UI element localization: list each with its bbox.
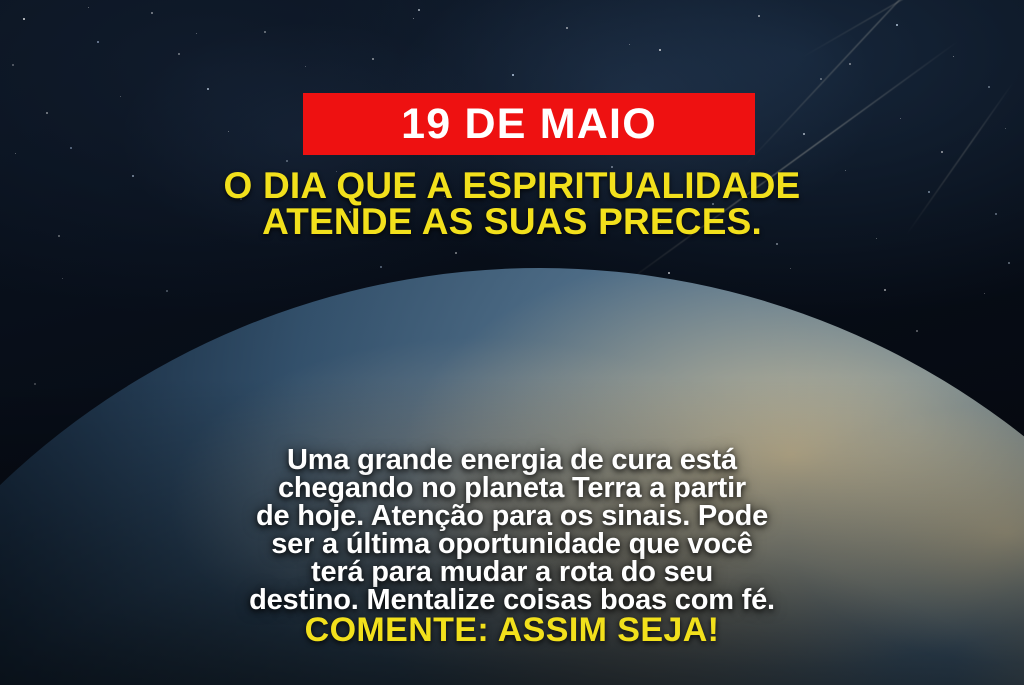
date-banner-text: 19 DE MAIO [401,103,657,146]
body-line-2: chegando no planeta Terra a partir [0,474,1024,502]
body-copy: Uma grande energia de cura está chegando… [0,446,1024,614]
headline-line-2: ATENDE AS SUAS PRECES. [0,204,1024,240]
headline: O DIA QUE A ESPIRITUALIDADE ATENDE AS SU… [0,168,1024,240]
body-line-1: Uma grande energia de cura está [0,446,1024,474]
body-line-4: ser a última oportunidade que você [0,530,1024,558]
poster-image: 19 DE MAIO O DIA QUE A ESPIRITUALIDADE A… [0,0,1024,685]
body-line-6: destino. Mentalize coisas boas com fé. [0,586,1024,614]
body-line-5: terá para mudar a rota do seu [0,558,1024,586]
call-to-action-text: COMENTE: ASSIM SEJA! [0,613,1024,647]
date-banner: 19 DE MAIO [303,93,755,155]
headline-line-1: O DIA QUE A ESPIRITUALIDADE [0,168,1024,204]
body-line-3: de hoje. Atenção para os sinais. Pode [0,502,1024,530]
poster-content: 19 DE MAIO O DIA QUE A ESPIRITUALIDADE A… [0,0,1024,685]
